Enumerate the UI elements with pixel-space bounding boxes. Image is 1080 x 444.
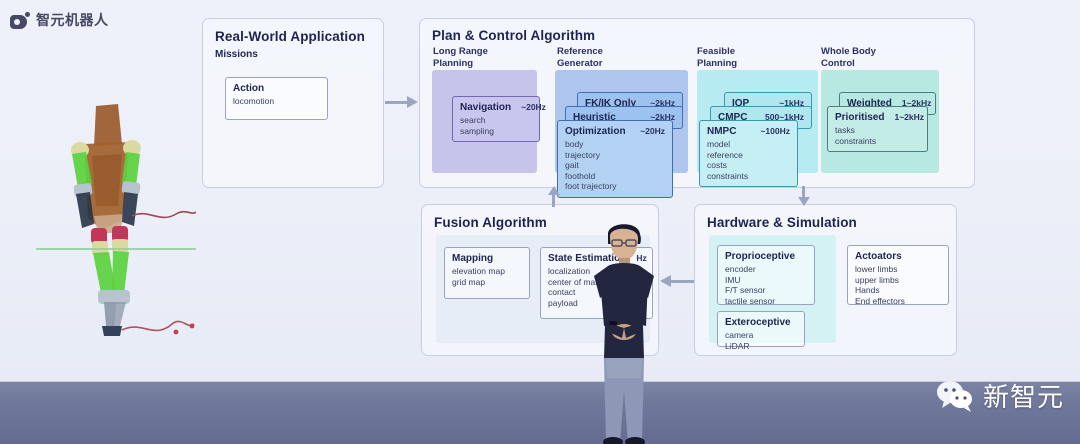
card-line: IMU — [725, 275, 807, 286]
label-line: Long Range — [433, 46, 488, 58]
card-line: elevation map — [452, 266, 522, 277]
card-exteroceptive: Exteroceptive camera LiDAR — [717, 311, 805, 347]
card-line: gait — [565, 160, 665, 171]
card-line: locomotion — [233, 96, 320, 107]
watermark-text: 新智元 — [983, 377, 1064, 414]
card-frequency: ~20Hz — [521, 102, 546, 112]
card-title: Navigation — [460, 102, 511, 113]
column-label-reference-generator: Reference Generator — [557, 46, 603, 69]
card-proprioceptive: Proprioceptive encoder IMU F/T sensor ta… — [717, 245, 815, 305]
card-prioritised: Prioritised 1~2kHz tasks constraints — [827, 106, 928, 152]
label-line: Planning — [697, 58, 737, 70]
label-line: Feasible — [697, 46, 737, 58]
card-line: body — [565, 139, 665, 150]
missions-label: Missions — [215, 49, 258, 61]
card-line: grid map — [452, 277, 522, 288]
brand-logo: 智元机器人 — [10, 10, 109, 30]
label-line: Control — [821, 58, 876, 70]
watermark: 新智元 — [935, 377, 1064, 414]
card-title: Mapping — [452, 253, 493, 264]
card-action: Action locomotion — [225, 77, 328, 120]
card-line: constraints — [835, 136, 920, 147]
group-reference-generator: FK/IK Only ~2kHz Heuristic ~2kHz Optimiz… — [555, 70, 688, 173]
panel-plan-control-algorithm: Plan & Control Algorithm Long Range Plan… — [419, 18, 975, 188]
robot-ground-line — [36, 248, 196, 250]
card-line: Hands — [855, 285, 941, 296]
card-title: Prioritised — [835, 112, 884, 123]
panel-real-world-application: Real-World Application Missions Action l… — [202, 18, 384, 188]
wechat-icon — [935, 379, 975, 413]
card-title: Optimization — [565, 126, 626, 137]
robot-illustration — [36, 98, 196, 343]
brand-name: 智元机器人 — [36, 10, 109, 30]
column-label-feasible-planning: Feasible Planning — [697, 46, 737, 69]
card-line: lower limbs — [855, 264, 941, 275]
card-title-action: Action — [233, 83, 264, 94]
card-line: foothold — [565, 171, 665, 182]
card-line: foot trajectory — [565, 181, 665, 192]
card-lines: elevation map grid map — [452, 266, 522, 287]
group-long-range-planning: Navigation ~20Hz search sampling — [432, 70, 537, 173]
group-feasible-planning: IQP ~1kHz CMPC 500~1kHz NMPC ~100Hz mode… — [697, 70, 818, 173]
panel-title-plan-control: Plan & Control Algorithm — [432, 28, 962, 43]
card-title: Actoators — [855, 251, 902, 262]
presenter-person — [578, 218, 670, 444]
card-lines: encoder IMU F/T sensor tactile sensor — [725, 264, 807, 306]
card-frequency: 1~2kHz — [894, 112, 924, 122]
card-line: upper limbs — [855, 275, 941, 286]
arrow-plan-to-hardware-icon — [798, 186, 810, 206]
label-line: Reference — [557, 46, 603, 58]
label-line: Planning — [433, 58, 488, 70]
card-line: tasks — [835, 125, 920, 136]
panel-hardware-simulation: Hardware & Simulation Proprioceptive enc… — [694, 204, 957, 356]
card-line: End effectors — [855, 296, 941, 307]
card-lines: tasks constraints — [835, 125, 920, 146]
card-frequency: ~20Hz — [640, 126, 665, 136]
card-line: model — [707, 139, 790, 150]
arrow-fusion-to-plan-icon — [548, 186, 560, 206]
card-title: Proprioceptive — [725, 251, 795, 262]
slide-photo: 智元机器人 — [0, 0, 1080, 444]
panel-title-hardware: Hardware & Simulation — [707, 215, 944, 230]
card-lines: lower limbs upper limbs Hands End effect… — [855, 264, 941, 306]
card-nmpc: NMPC ~100Hz model reference costs constr… — [699, 120, 798, 187]
card-lines: model reference costs constraints — [707, 139, 790, 181]
card-line: encoder — [725, 264, 807, 275]
panel-title-real-world: Real-World Application — [215, 29, 371, 44]
card-lines: search sampling — [460, 115, 532, 136]
card-line: F/T sensor — [725, 285, 807, 296]
card-lines: camera LiDAR — [725, 330, 797, 351]
card-line: search — [460, 115, 532, 126]
card-mapping: Mapping elevation map grid map — [444, 247, 530, 299]
card-line: reference — [707, 150, 790, 161]
label-line: Generator — [557, 58, 603, 70]
card-title: Exteroceptive — [725, 317, 791, 328]
card-line: constraints — [707, 171, 790, 182]
stage-floor — [0, 381, 1080, 444]
zhiyuan-logo-icon — [10, 12, 30, 29]
card-navigation: Navigation ~20Hz search sampling — [452, 96, 540, 142]
column-label-whole-body-control: Whole Body Control — [821, 46, 876, 69]
arrow-real-world-to-plan-icon — [385, 96, 419, 108]
card-title: NMPC — [707, 126, 736, 137]
card-frequency: ~100Hz — [760, 126, 790, 136]
card-line: costs — [707, 160, 790, 171]
card-line: camera — [725, 330, 797, 341]
robot-figure-svg — [36, 98, 196, 343]
card-optimization: Optimization ~20Hz body trajectory gait … — [557, 120, 673, 198]
card-line: sampling — [460, 126, 532, 137]
card-line: trajectory — [565, 150, 665, 161]
label-line: Whole Body — [821, 46, 876, 58]
card-line: tactile sensor — [725, 296, 807, 307]
card-lines: body trajectory gait foothold foot traje… — [565, 139, 665, 192]
column-label-long-range-planning: Long Range Planning — [433, 46, 488, 69]
card-line: LiDAR — [725, 341, 797, 352]
card-lines-action: locomotion — [233, 96, 320, 107]
card-actoators: Actoators lower limbs upper limbs Hands … — [847, 245, 949, 305]
group-whole-body-control: Weighted 1~2kHz Prioritised 1~2kHz tasks… — [821, 70, 939, 173]
